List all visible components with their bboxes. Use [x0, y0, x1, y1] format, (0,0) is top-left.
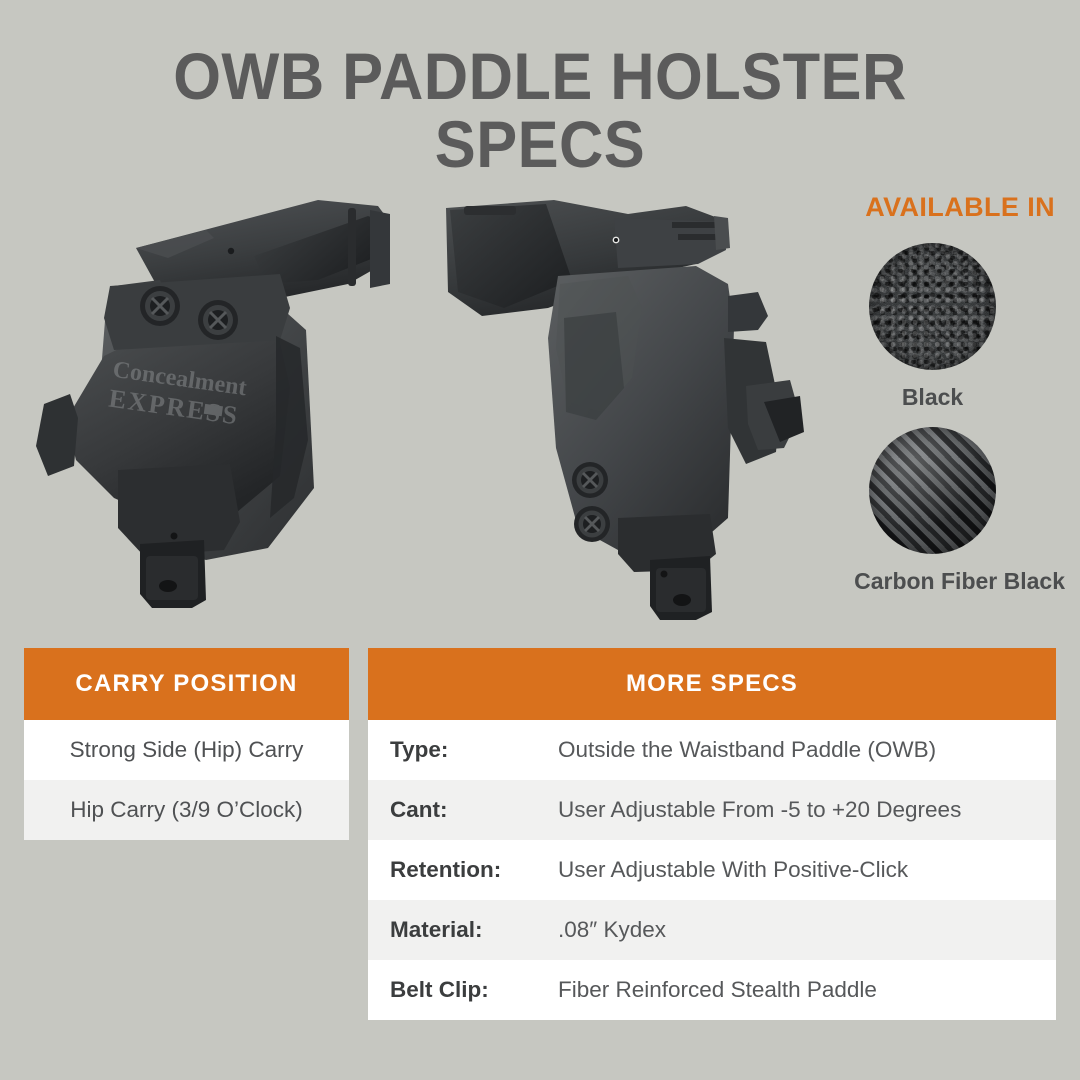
table-row: Retention: User Adjustable With Positive… — [368, 840, 1056, 900]
spec-label: Cant: — [390, 797, 558, 823]
carry-position-value: Hip Carry (3/9 O’Clock) — [70, 797, 303, 823]
more-specs-header: MORE SPECS — [368, 648, 1056, 720]
table-row: Type: Outside the Waistband Paddle (OWB) — [368, 720, 1056, 780]
table-row: Hip Carry (3/9 O’Clock) — [24, 780, 349, 840]
spec-value: Outside the Waistband Paddle (OWB) — [558, 737, 936, 763]
spec-label: Material: — [390, 917, 558, 943]
page-title: OWB PADDLE HOLSTER SPECS — [38, 42, 1042, 178]
spec-value: Fiber Reinforced Stealth Paddle — [558, 977, 877, 1003]
spec-value: User Adjustable With Positive-Click — [558, 857, 908, 883]
holster-front-image: Concealment EXPRESS — [18, 188, 418, 628]
carry-position-value: Strong Side (Hip) Carry — [70, 737, 304, 763]
table-row: Strong Side (Hip) Carry — [24, 720, 349, 780]
table-row: Cant: User Adjustable From -5 to +20 Deg… — [368, 780, 1056, 840]
spec-label: Retention: — [390, 857, 558, 883]
available-in-section: AVAILABLE IN Black Carbon Fiber Black — [800, 192, 1065, 595]
holster-rear-image — [428, 188, 828, 628]
spec-value: .08″ Kydex — [558, 917, 666, 943]
page-title-line-2: SPECS — [38, 110, 1042, 178]
color-option-carbon-fiber[interactable]: Carbon Fiber Black — [800, 427, 1065, 595]
product-image-group: Concealment EXPRESS — [0, 180, 820, 630]
black-texture-swatch[interactable] — [869, 243, 996, 370]
carbon-fiber-swatch[interactable] — [869, 427, 996, 554]
spec-label: Belt Clip: — [390, 977, 558, 1003]
page-title-line-1: OWB PADDLE HOLSTER — [38, 42, 1042, 110]
table-row: Belt Clip: Fiber Reinforced Stealth Padd… — [368, 960, 1056, 1020]
color-option-carbon-fiber-label: Carbon Fiber Black — [800, 568, 1065, 595]
color-option-black[interactable]: Black — [800, 243, 1065, 411]
spec-label: Type: — [390, 737, 558, 763]
available-in-heading: AVAILABLE IN — [800, 192, 1065, 223]
carry-position-header: CARRY POSITION — [24, 648, 349, 720]
spec-value: User Adjustable From -5 to +20 Degrees — [558, 797, 961, 823]
more-specs-table: MORE SPECS Type: Outside the Waistband P… — [368, 648, 1056, 1020]
table-row: Material: .08″ Kydex — [368, 900, 1056, 960]
carry-position-table: CARRY POSITION Strong Side (Hip) Carry H… — [24, 648, 349, 840]
color-option-black-label: Black — [800, 384, 1065, 411]
